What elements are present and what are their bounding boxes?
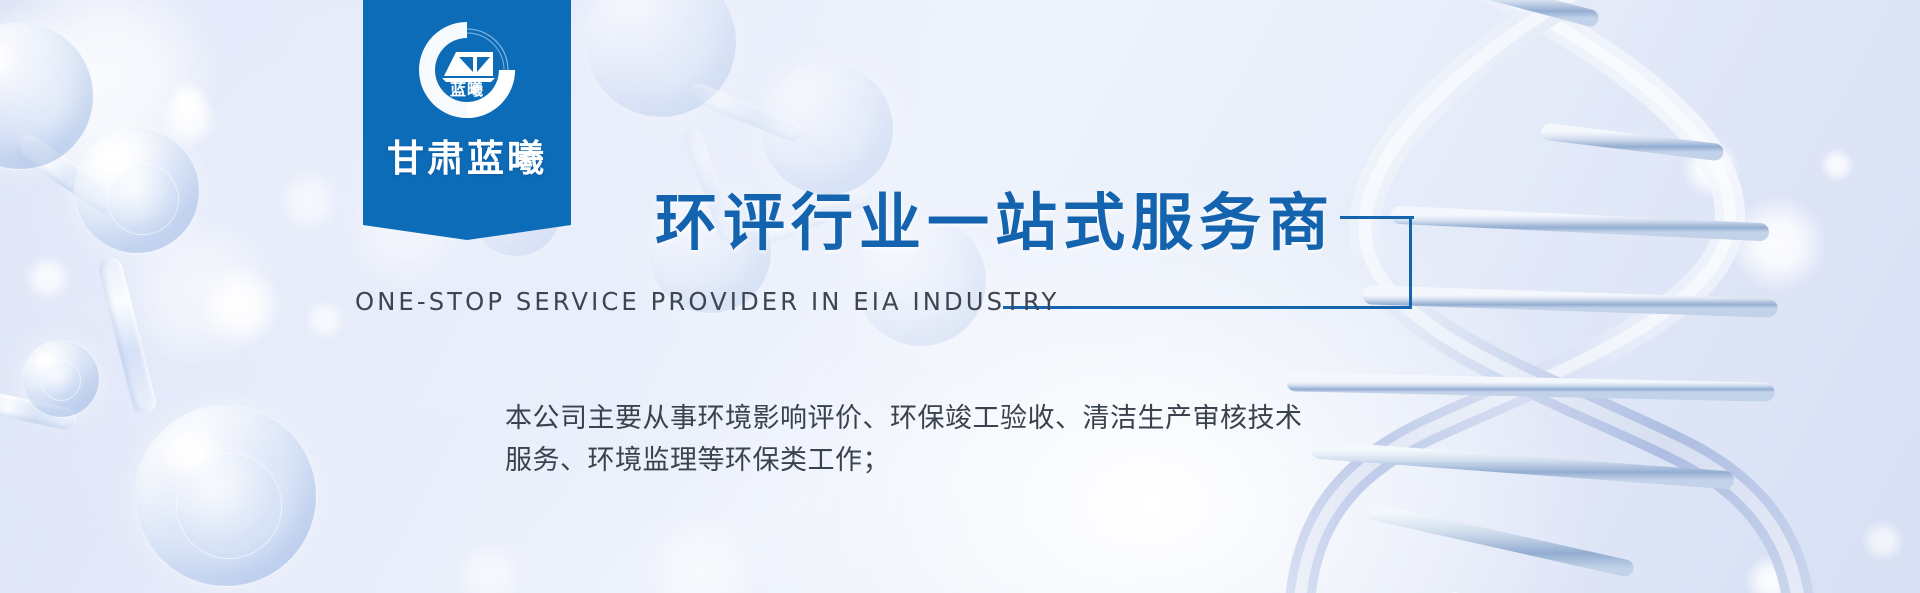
- glow-dot: [168, 82, 208, 122]
- molecule-sphere: [74, 128, 200, 254]
- logo-mark-text: 蓝曦: [411, 76, 523, 100]
- glow-dot: [455, 540, 525, 593]
- company-name: 甘肃蓝曦: [363, 128, 571, 182]
- molecule-sphere: [0, 22, 94, 170]
- molecule-sphere: [22, 340, 100, 418]
- description-block: 本公司主要从事环境影响评价、环保竣工验收、清洁生产审核技术 服务、环境监理等环保…: [505, 398, 1385, 482]
- brand-ribbon[interactable]: 蓝曦 甘肃蓝曦: [363, 0, 571, 240]
- molecule-sphere-inner: [107, 164, 178, 235]
- hero-banner: 蓝曦 甘肃蓝曦 环评行业一站式服务商 ONE-STOP SERVICE PROV…: [0, 0, 1920, 593]
- bracket-line-top: [1340, 216, 1414, 219]
- molecule-bond: [96, 255, 158, 416]
- description-line-1: 本公司主要从事环境影响评价、环保竣工验收、清洁生产审核技术: [505, 398, 1385, 440]
- molecule-sphere-inner: [176, 453, 282, 559]
- glow-dot: [278, 170, 340, 232]
- glow-dot: [305, 300, 345, 340]
- page-subtitle: ONE-STOP SERVICE PROVIDER IN EIA INDUSTR…: [355, 287, 1059, 316]
- circular-emblem-logo: 蓝曦: [411, 14, 523, 126]
- molecule-sphere-inner: [41, 361, 81, 401]
- page-title: 环评行业一站式服务商: [655, 172, 1335, 262]
- molecule-sphere: [135, 405, 317, 587]
- dna-svg: [1260, 0, 1920, 593]
- bracket-line-bottom: [1003, 306, 1412, 309]
- bracket-line-vertical: [1409, 216, 1412, 309]
- logo-svg: [411, 14, 523, 126]
- description-line-2: 服务、环境监理等环保类工作；: [505, 440, 1385, 482]
- dna-double-helix-graphic: [1260, 0, 1920, 593]
- glow-dot: [200, 265, 282, 347]
- glow-dot: [25, 255, 71, 301]
- glow-dot: [640, 515, 760, 593]
